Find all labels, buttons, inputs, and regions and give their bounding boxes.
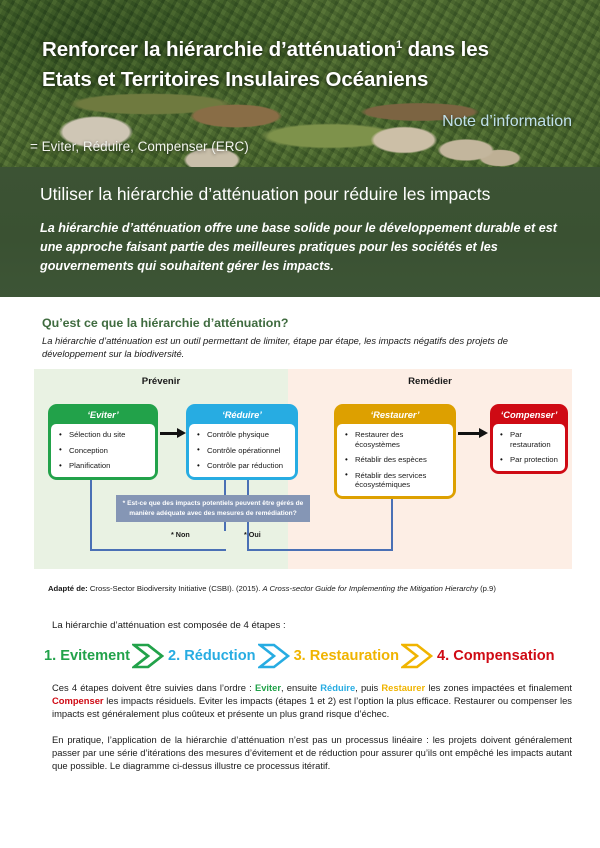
- erc-definition: = Eviter, Réduire, Compenser (ERC): [30, 139, 249, 154]
- banner-subheading: La hiérarchie d’atténuation offre une ba…: [40, 219, 560, 276]
- para1-e: les impacts résiduels. Eviter les impact…: [52, 695, 572, 719]
- paragraph-iterative-process: En pratique, l’application de la hiérarc…: [52, 733, 572, 773]
- list-item: Planification: [59, 461, 149, 471]
- list-item: Restaurer des écosystèmes: [345, 430, 447, 449]
- inline-word-reduire: Réduire: [320, 682, 355, 693]
- decision-question-box: * Est-ce que des impacts potentiels peuv…: [116, 495, 310, 522]
- steps-intro-text: La hiérarchie d’atténuation est composée…: [52, 620, 570, 631]
- list-item: Contrôle physique: [197, 430, 289, 440]
- decision-label-non: * Non: [171, 530, 190, 539]
- page-title-line1-tail: dans les: [402, 38, 489, 61]
- connector-non-up-to-eviter: [90, 477, 92, 551]
- step-box-reduire[interactable]: ‘Réduire’ Contrôle physique Contrôle opé…: [186, 404, 298, 480]
- list-item: Rétablir des services écosystémiques: [345, 471, 447, 490]
- step-box-eviter-content: Sélection du site Conception Planificati…: [51, 424, 155, 477]
- source-title: A Cross-sector Guide for Implementing th…: [262, 584, 477, 593]
- document-body: Qu’est ce que la hiérarchie d’atténuatio…: [0, 316, 600, 772]
- arrow-right-restaurer-to-compenser-icon: [458, 432, 480, 435]
- mitigation-hierarchy-diagram: Prévenir Remédier ‘Eviter’ Sélection du …: [34, 369, 572, 569]
- document-type-label: Note d’information: [442, 113, 572, 131]
- step-box-reduire-content: Contrôle physique Contrôle opérationnel …: [189, 424, 295, 477]
- section-subtext: La hiérarchie d’atténuation est un outil…: [30, 335, 530, 360]
- step-label-evitement: 1. Evitement: [44, 648, 130, 664]
- chevron-right-blue-icon: [258, 643, 292, 669]
- page-title-line1: Renforcer la hiérarchie d’atténuation: [42, 38, 396, 61]
- panel-prevenir-label: Prévenir: [34, 376, 288, 387]
- list-item: Rétablir des espèces: [345, 455, 447, 465]
- list-item: Par restauration: [500, 430, 560, 449]
- panel-remedier-label: Remédier: [288, 376, 572, 387]
- paragraph-order-of-steps: Ces 4 étapes doivent être suivies dans l…: [52, 681, 572, 721]
- page-title: Renforcer la hiérarchie d’atténuation1 d…: [42, 30, 562, 95]
- decision-label-oui: * Oui: [244, 530, 261, 539]
- chevron-right-yellow-icon: [401, 643, 435, 669]
- step-label-compensation: 4. Compensation: [437, 648, 555, 664]
- step-box-restaurer-title: ‘Restaurer’: [337, 407, 453, 424]
- step-box-compenser[interactable]: ‘Compenser’ Par restauration Par protect…: [490, 404, 568, 474]
- source-prefix: Adapté de:: [48, 584, 88, 593]
- list-item: Contrôle par réduction: [197, 461, 289, 471]
- page-title-line2: Etats et Territoires Insulaires Océanien…: [42, 68, 428, 91]
- step-box-eviter[interactable]: ‘Eviter’ Sélection du site Conception Pl…: [48, 404, 158, 480]
- hero-banner: Renforcer la hiérarchie d’atténuation1 d…: [0, 0, 600, 167]
- inline-word-restaurer: Restaurer: [381, 682, 425, 693]
- para1-c: , puis: [355, 682, 381, 693]
- green-banner: Utiliser la hiérarchie d’atténuation pou…: [0, 167, 600, 297]
- step-box-eviter-title: ‘Eviter’: [51, 407, 155, 424]
- arrow-right-eviter-to-reduire-icon: [160, 432, 178, 435]
- step-box-restaurer[interactable]: ‘Restaurer’ Restaurer des écosystèmes Ré…: [334, 404, 456, 499]
- para1-a: Ces 4 étapes doivent être suivies dans l…: [52, 682, 255, 693]
- step-label-reduction: 2. Réduction: [168, 648, 256, 664]
- section-heading: Qu’est ce que la hiérarchie d’atténuatio…: [30, 316, 570, 330]
- list-item: Par protection: [500, 455, 560, 465]
- source-text: Cross-Sector Biodiversity Initiative (CS…: [88, 584, 263, 593]
- list-item: Conception: [59, 446, 149, 456]
- connector-non-bottom: [90, 549, 226, 551]
- list-item: Sélection du site: [59, 430, 149, 440]
- inline-word-compenser: Compenser: [52, 695, 104, 706]
- list-item: Contrôle opérationnel: [197, 446, 289, 456]
- chevron-right-green-icon: [132, 643, 166, 669]
- para1-b: , ensuite: [281, 682, 320, 693]
- step-box-reduire-title: ‘Réduire’: [189, 407, 295, 424]
- inline-word-eviter: Eviter: [255, 682, 281, 693]
- source-citation: Adapté de: Cross-Sector Biodiversity Ini…: [48, 583, 570, 594]
- step-box-restaurer-content: Restaurer des écosystèmes Rétablir des e…: [337, 424, 453, 496]
- connector-oui-bottom: [247, 549, 393, 551]
- steps-chevron-row: 1. Evitement 2. Réduction 3. Restauratio…: [44, 642, 570, 670]
- para1-d: les zones impactées et finalement: [425, 682, 572, 693]
- banner-heading: Utiliser la hiérarchie d’atténuation pou…: [40, 181, 564, 207]
- step-box-compenser-title: ‘Compenser’: [493, 407, 565, 424]
- step-box-compenser-content: Par restauration Par protection: [493, 424, 565, 471]
- step-label-restauration: 3. Restauration: [294, 648, 399, 664]
- source-suffix: (p.9): [478, 584, 496, 593]
